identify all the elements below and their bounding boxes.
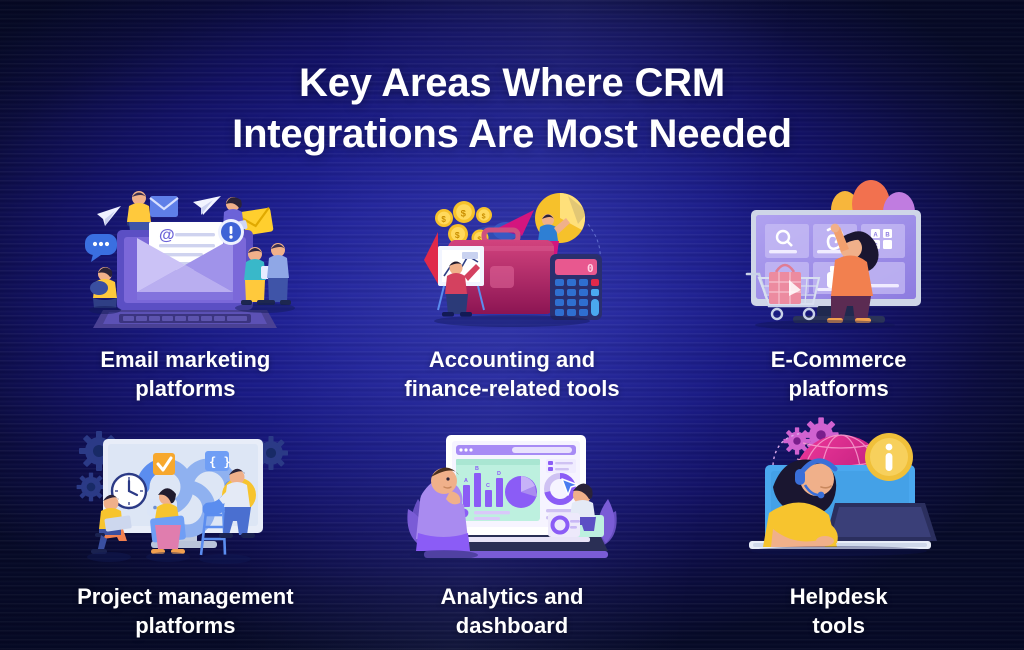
card-caption: Helpdesk tools	[689, 583, 989, 640]
illustration-analytics-dashboard: A B C D	[402, 425, 622, 573]
chat-bubble-icon	[85, 234, 117, 262]
card-caption: Email marketing platforms	[35, 346, 335, 403]
alert-badge-icon	[218, 219, 244, 245]
paper-plane-icon	[97, 206, 121, 226]
page-title-line-1: Key Areas Where CRM	[0, 58, 1024, 109]
calculator-icon: 0	[550, 254, 602, 320]
illustration-project-management: { }	[75, 425, 295, 573]
card-caption-line-1: Email marketing	[35, 346, 335, 375]
card-caption-line-2: finance-related tools	[362, 375, 662, 404]
card-caption-line-2: dashboard	[362, 612, 662, 641]
card-caption-line-1: Accounting and	[362, 346, 662, 375]
illustration-helpdesk	[729, 425, 949, 573]
card-caption: Accounting and finance-related tools	[362, 346, 662, 403]
card-caption-line-1: E-Commerce	[689, 346, 989, 375]
card-accounting-finance: $ $ $ $ $	[349, 188, 676, 403]
bar-label-d: D	[497, 471, 501, 477]
envelope-small-icon	[150, 196, 178, 217]
person-illustration	[89, 267, 121, 314]
svg-text:$: $	[441, 215, 446, 224]
page-title-line-2: Integrations Are Most Needed	[0, 109, 1024, 160]
svg-text:@: @	[159, 227, 175, 244]
coin-icon: $	[435, 209, 453, 227]
flag-icon	[424, 232, 438, 284]
card-caption-line-2: platforms	[35, 375, 335, 404]
card-caption-line-2: platforms	[689, 375, 989, 404]
paper-plane-icon	[193, 196, 221, 215]
page-title: Key Areas Where CRM Integrations Are Mos…	[0, 58, 1024, 160]
svg-text:$: $	[455, 230, 460, 240]
info-badge-icon	[865, 433, 913, 481]
card-caption: Analytics and dashboard	[362, 583, 662, 640]
card-caption-line-2: platforms	[35, 612, 335, 641]
bar-label-a: A	[464, 478, 468, 484]
poster-canvas: Key Areas Where CRM Integrations Are Mos…	[0, 0, 1024, 650]
card-analytics-dashboard: A B C D	[349, 425, 676, 640]
card-caption-line-1: Analytics and	[362, 583, 662, 612]
card-caption-line-1: Helpdesk	[689, 583, 989, 612]
bar-label-b: B	[475, 466, 479, 472]
bar-label-c: C	[486, 483, 490, 489]
card-e-commerce: A B C	[675, 188, 1002, 403]
svg-text:{ }: { }	[209, 455, 231, 469]
illustration-e-commerce: A B C	[729, 188, 949, 336]
card-email-marketing: @	[22, 188, 349, 403]
coin-icon: $	[476, 207, 492, 223]
card-caption: E-Commerce platforms	[689, 346, 989, 403]
svg-text:$: $	[461, 209, 467, 220]
illustration-accounting-finance: $ $ $ $ $	[402, 188, 622, 336]
card-helpdesk: Helpdesk tools	[675, 425, 1002, 640]
card-caption-line-2: tools	[689, 612, 989, 641]
svg-text:A: A	[873, 232, 878, 238]
laptop-lid	[825, 503, 937, 541]
pie-chart-icon	[505, 476, 537, 508]
checkbox-icon	[153, 453, 175, 475]
metric-card	[548, 513, 580, 537]
svg-text:B: B	[885, 232, 890, 238]
card-project-management: { }	[22, 425, 349, 640]
svg-text:$: $	[482, 214, 486, 221]
cards-grid: @	[22, 188, 1002, 640]
person-illustration	[264, 243, 291, 305]
code-braces-icon: { }	[205, 451, 231, 471]
card-caption: Project management platforms	[35, 583, 335, 640]
svg-text:0: 0	[587, 262, 594, 275]
coin-icon: $	[453, 201, 475, 223]
illustration-email-marketing: @	[75, 188, 295, 336]
card-caption-line-1: Project management	[35, 583, 335, 612]
